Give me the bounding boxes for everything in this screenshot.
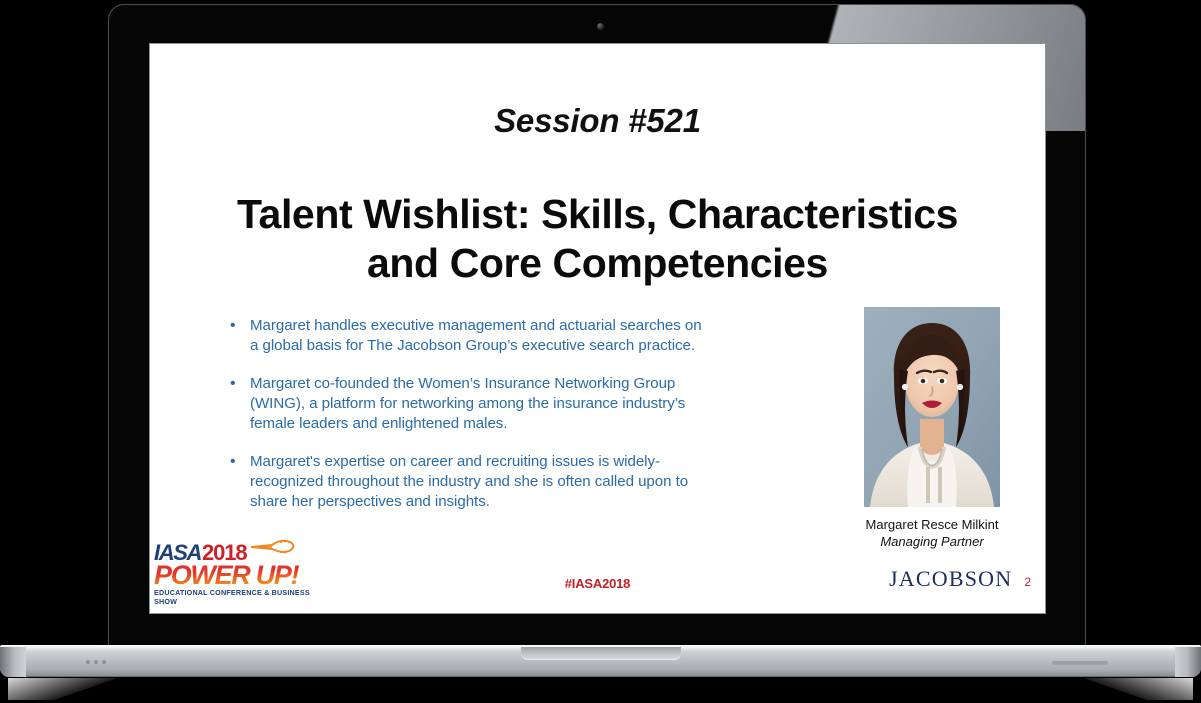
guitar-headstock-icon (250, 539, 296, 560)
base-vent-dots (86, 660, 106, 664)
session-number-label: Session #521 (150, 102, 1045, 140)
jacobson-wordmark: JACOBSON (889, 567, 1012, 591)
laptop-base (0, 645, 1201, 678)
vent-dot (94, 660, 98, 664)
base-right-cap (1175, 647, 1201, 677)
list-item: • Margaret co-founded the Women’s Insura… (228, 374, 708, 434)
headshot-illustration (864, 307, 1000, 507)
list-item-text: Margaret handles executive management an… (250, 316, 708, 356)
bullet-list: • Margaret handles executive management … (228, 316, 708, 530)
list-item-text: Margaret's expertise on career and recru… (250, 452, 708, 512)
bullet-point-icon: • (228, 374, 250, 394)
base-shadow-right (1083, 678, 1193, 700)
vent-dot (86, 660, 90, 664)
iasa-conference-logo: IASA 2018 (154, 541, 326, 606)
base-shadow-left (8, 678, 118, 700)
list-item-text: Margaret co-founded the Women’s Insuranc… (250, 374, 708, 434)
page-number: 2 (1024, 570, 1031, 594)
sponsor-logo-block: JACOBSON 2 (889, 567, 1031, 594)
speaker-photo (864, 307, 1000, 507)
slide-title: Talent Wishlist: Skills, Characteristics… (196, 190, 999, 288)
list-item: • Margaret handles executive management … (228, 316, 708, 356)
bullet-point-icon: • (228, 316, 250, 336)
vent-dot (102, 660, 106, 664)
base-left-cap (0, 647, 26, 677)
laptop-mockup: Session #521 Talent Wishlist: Skills, Ch… (0, 0, 1201, 703)
presentation-slide: Session #521 Talent Wishlist: Skills, Ch… (150, 44, 1045, 613)
speaker-portrait-block: Margaret Resce Milkint Managing Partner (832, 307, 1032, 550)
webcam-icon (597, 23, 604, 30)
trackpad-notch (521, 647, 681, 660)
base-right-slot (1052, 661, 1108, 665)
speaker-name: Margaret Resce Milkint (832, 516, 1032, 533)
slide-footer: IASA 2018 (150, 537, 1045, 613)
list-item: • Margaret's expertise on career and rec… (228, 452, 708, 512)
bullet-point-icon: • (228, 452, 250, 472)
laptop-lid: Session #521 Talent Wishlist: Skills, Ch… (108, 4, 1086, 647)
